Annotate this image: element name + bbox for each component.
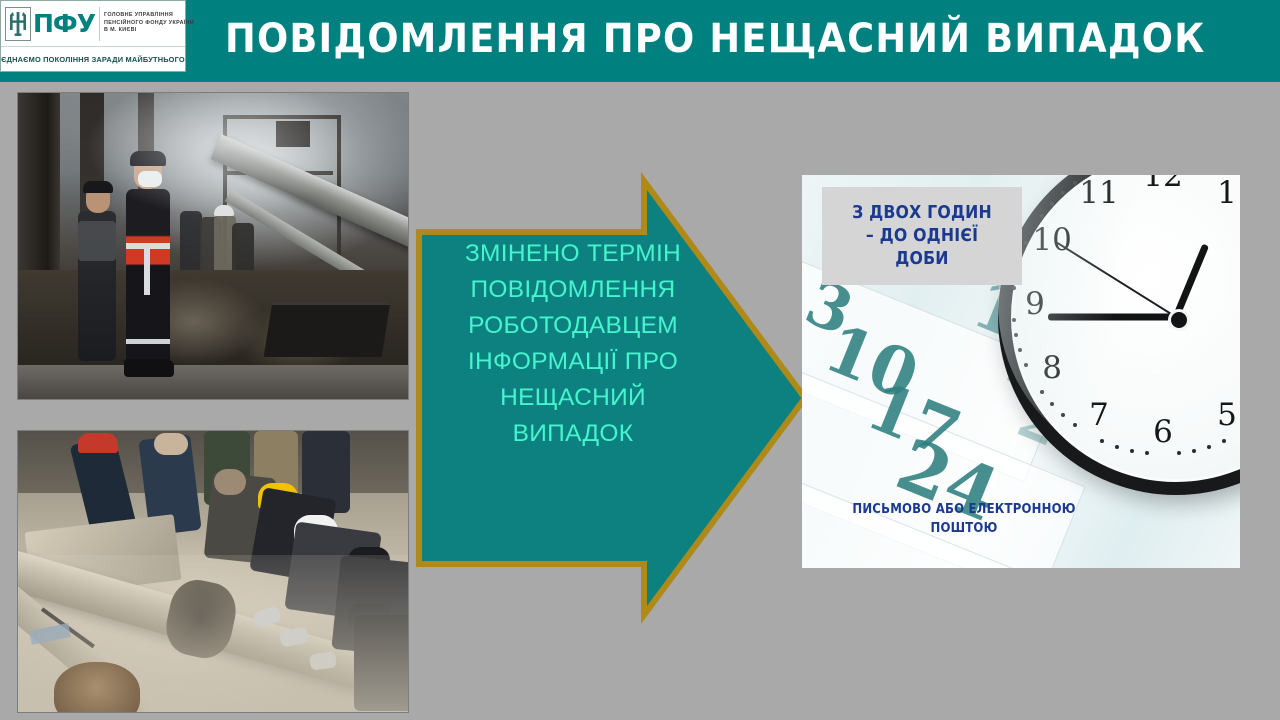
process-arrow-text: ЗМІНЕНО ТЕРМІН ПОВІДОМЛЕННЯ РОБОТОДАВЦЕМ… [434,236,712,452]
logo-full-name: ГОЛОВНЕ УПРАВЛІННЯ ПЕНСІЙНОГО ФОНДУ УКРА… [104,12,194,35]
clock-center-cap [1168,309,1190,331]
ground-surface [18,365,408,399]
callout-line-1: З ДВОХ ГОДИН [852,202,992,225]
rescuer-head [154,433,188,455]
scaffold-box [276,121,310,147]
clock-numeral: 6 [1141,415,1185,449]
clock-tick [1130,449,1134,453]
clock-tick [1222,439,1226,443]
arrow-line-1: ЗМІНЕНО ТЕРМІН [434,236,712,272]
clock-numeral: 11 [1077,176,1121,210]
clock-tick [1061,413,1065,417]
firefighter-cap [130,151,166,166]
arrow-line-5: НЕЩАСНИЙ [434,380,712,416]
clock-tick [1207,445,1211,449]
clock-minute-hand [1048,314,1176,321]
clock-tick [1115,445,1119,449]
clock-tick [1040,390,1044,394]
clock-second-hand [1057,242,1177,318]
header-bar: ПФУ ГОЛОВНЕ УПРАВЛІННЯ ПЕНСІЙНОГО ФОНДУ … [0,0,1280,82]
deadline-callout-text: З ДВОХ ГОДИН – ДО ОДНІЄЇ ДОБИ [852,202,992,271]
clock-tick [1012,318,1016,322]
clock-tick [1018,348,1022,352]
process-arrow: ЗМІНЕНО ТЕРМІН ПОВІДОМЛЕННЯ РОБОТОДАВЦЕМ… [410,172,814,624]
clock-tick [1177,451,1181,455]
rescue-operation-photo-canvas [18,431,408,712]
clock-tick [1024,363,1028,367]
second-person-vest [78,221,116,261]
second-person-cap [83,181,113,193]
clock-tick [1145,451,1149,455]
logo-divider [99,7,100,41]
clock-numeral: 12 [1141,175,1185,193]
clock-tick [1100,439,1104,443]
clock-numeral: 10 [1030,223,1074,257]
rescuer-head [214,469,246,495]
clock-tick [1014,333,1018,337]
logo-tagline: ЄДНАЄМО ПОКОЛІННЯ ЗАРАДИ МАЙБУТНЬОГО [1,47,185,71]
firefighter-harness-strap [144,245,150,295]
organization-logo: ПФУ ГОЛОВНЕ УПРАВЛІННЯ ПЕНСІЙНОГО ФОНДУ … [0,0,186,72]
clock-tick [1192,449,1196,453]
logo-tagline-text: ЄДНАЄМО ПОКОЛІННЯ ЗАРАДИ МАЙБУТНЬОГО [1,55,185,64]
callout-line-2: – ДО ОДНІЄЇ [852,225,992,248]
tryzub-icon [5,7,31,41]
logo-name-line-2: ПЕНСІЙНОГО ФОНДУ УКРАЇНИ [104,20,194,28]
logo-abbreviation: ПФУ [33,11,95,36]
clock-tick [1024,241,1028,245]
arrow-line-2: ПОВІДОМЛЕННЯ [434,272,712,308]
callout-line-3: ДОБИ [852,248,992,271]
clock-numeral: 7 [1077,398,1121,432]
arrow-line-6: ВИПАДОК [434,416,712,452]
deadline-callout: З ДВОХ ГОДИН – ДО ОДНІЄЇ ДОБИ [822,187,1022,285]
foreground-person-head [54,662,140,713]
white-helmet [214,205,234,216]
clock-tick [1040,214,1044,218]
clock-tick [1050,202,1054,206]
firefighter-reflective-stripe-lower [126,339,170,344]
page-title: ПОВІДОМЛЕННЯ ПРО НЕЩАСНИЙ ВИПАДОК [225,16,1276,62]
fire-site-photo-canvas [18,93,408,399]
logo-name-line-3: В М. КИЄВІ [104,27,194,35]
clock-numeral: 5 [1205,398,1240,432]
fire-site-photo [17,92,409,400]
excavator-bucket [264,302,391,357]
arrow-line-4: ІНФОРМАЦІЇ ПРО [434,344,712,380]
notification-method-note: ПИСЬМОВО АБО ЕЛЕКТРОННОЮ ПОШТОЮ [814,500,1114,538]
clock-numeral: 1 [1205,176,1240,210]
arrow-line-3: РОБОТОДАВЦЕМ [434,308,712,344]
clock-tick [1050,402,1054,406]
clock-calendar-panel: 18 25 2 3 10 17 24 121234567891011 З ДВО… [802,175,1240,568]
logo-top-row: ПФУ ГОЛОВНЕ УПРАВЛІННЯ ПЕНСІЙНОГО ФОНДУ … [1,1,185,47]
footnote-line-2: ПОШТОЮ [814,519,1114,538]
logo-name-line-1: ГОЛОВНЕ УПРАВЛІННЯ [104,12,194,20]
red-helmet [78,433,118,453]
respirator-mask-icon [138,171,162,187]
rescue-operation-photo [17,430,409,713]
clock-numeral: 8 [1030,351,1074,385]
footnote-line-1: ПИСЬМОВО АБО ЕЛЕКТРОННОЮ [814,500,1114,519]
clock-tick [1073,181,1077,185]
clock-hour-hand [1173,244,1209,319]
clock-tick [1061,191,1065,195]
firefighter-boots [124,359,174,377]
